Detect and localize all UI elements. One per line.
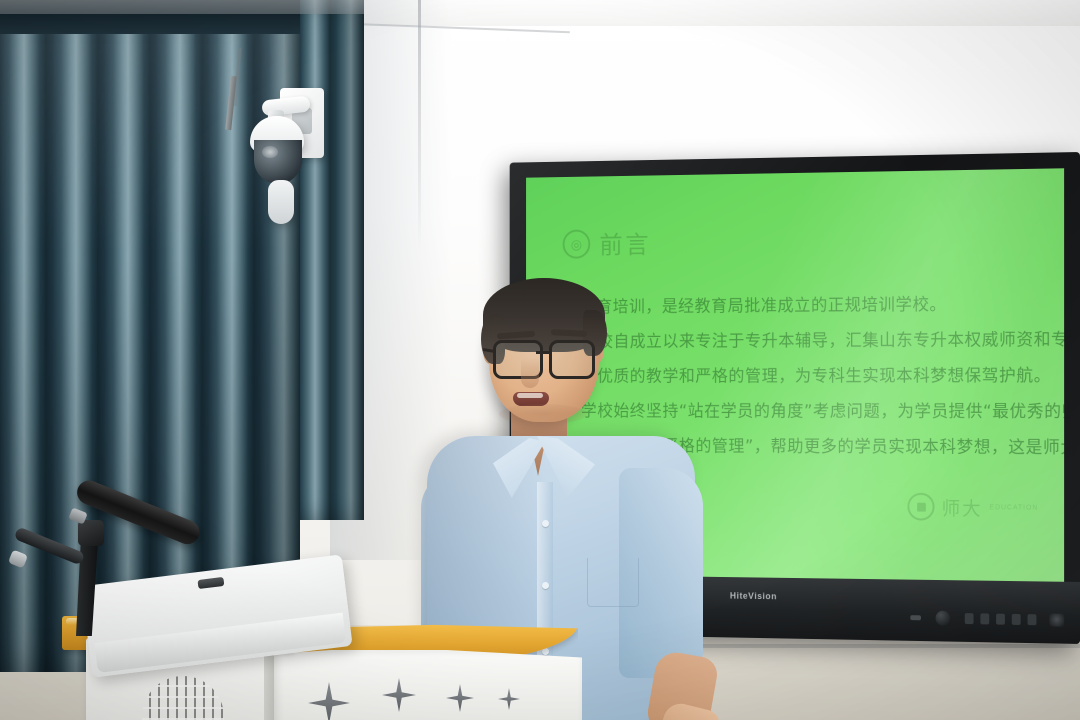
- volume-down-button[interactable]: [996, 614, 1005, 625]
- photo-scene: ◎ 前言 ——教育培训，是经教育局批准成立的正规培训学校。 学校自成立以来专注于…: [0, 0, 1080, 720]
- microphone-tip: [8, 550, 28, 569]
- camera-lens-highlight: [262, 146, 278, 158]
- curtain-secondary: [300, 0, 364, 520]
- chin-shading: [499, 404, 587, 424]
- watermark-text: 师大: [942, 493, 983, 520]
- dome-security-camera: [250, 84, 330, 224]
- power-button[interactable]: [936, 611, 951, 626]
- source-button[interactable]: [980, 613, 989, 624]
- school-logo-icon: ◎: [563, 230, 591, 259]
- menu-button[interactable]: [965, 613, 974, 624]
- slide-title-block: ◎ 前言: [563, 226, 652, 262]
- home-button[interactable]: [1028, 614, 1037, 625]
- podium-front-panel: [260, 650, 582, 720]
- camera-mount-base: [268, 180, 294, 224]
- panel-control-strip[interactable]: [910, 610, 1064, 627]
- watermark-subtext: EDUCATION: [989, 504, 1038, 511]
- gooseneck-microphone: [10, 476, 220, 656]
- camera-dome-lens: [254, 140, 302, 184]
- curtain-rail: [0, 0, 364, 14]
- volume-up-button[interactable]: [1012, 614, 1021, 625]
- glasses-bridge: [536, 351, 552, 354]
- watermark-logo-inner: [917, 502, 926, 511]
- slide-watermark: 师大 EDUCATION: [908, 493, 1039, 522]
- teeth: [517, 393, 543, 398]
- panel-brand-logo: HiteVision: [730, 591, 777, 601]
- lens-right: [549, 340, 595, 379]
- usb-port[interactable]: [1049, 613, 1064, 626]
- shirt-button: [542, 520, 549, 527]
- slide-title-text: 前言: [599, 226, 651, 261]
- ir-receiver-icon: [910, 615, 921, 620]
- nose: [521, 358, 539, 388]
- eyeglasses-icon: [491, 340, 603, 374]
- watermark-logo-icon: [908, 493, 935, 521]
